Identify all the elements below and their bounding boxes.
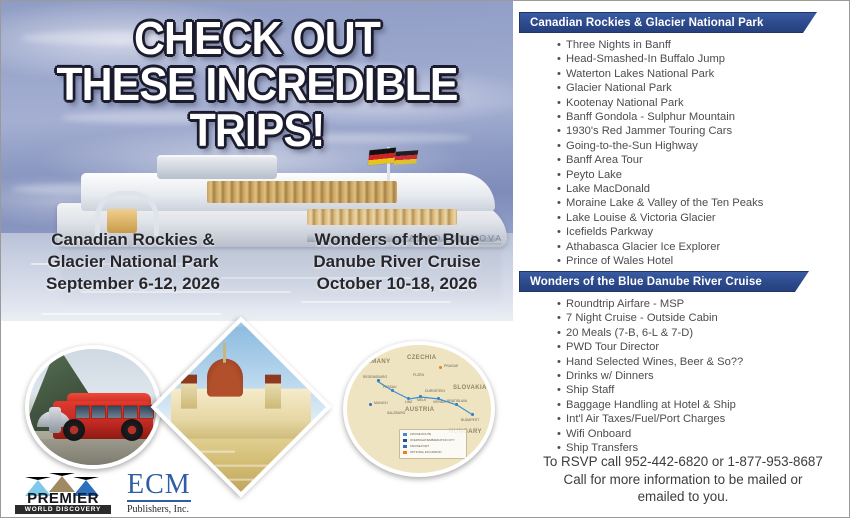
- premier-logo-tagline: WORLD DISCOVERY: [15, 505, 111, 514]
- ecm-logo-word: ECM: [127, 471, 191, 502]
- list-item: Three Nights in Banff: [566, 38, 849, 52]
- road-surface: [29, 439, 161, 465]
- list-item: Lake MacDonald: [566, 182, 849, 196]
- trip-title-line-2: Glacier National Park: [47, 252, 218, 271]
- list-item: Roundtrip Airfare - MSP: [566, 297, 849, 311]
- list-item: Peyto Lake: [566, 168, 849, 182]
- list-item: 20 Meals (7-B, 6-L & 7-D): [566, 326, 849, 340]
- trip-dates: October 10-18, 2026: [277, 273, 513, 295]
- trip-title-line-1: Canadian Rockies &: [51, 230, 214, 249]
- list-item: Wifi Onboard: [566, 427, 849, 441]
- danube-section: Wonders of the Blue Danube River Cruise …: [513, 271, 849, 455]
- list-item: Int'l Air Taxes/Fuel/Port Charges: [566, 412, 849, 426]
- trip-title-line-1: Wonders of the Blue: [315, 230, 480, 249]
- list-item: Baggage Handling at Hotel & Ship: [566, 398, 849, 412]
- map-legend-item-3: OPTIONAL EXCURSION: [410, 450, 441, 454]
- rsvp-line-3: emailed to you.: [521, 488, 845, 506]
- logo-row: PREMIER WORLD DISCOVERY ECM Publishers, …: [15, 471, 245, 513]
- list-item: Hand Selected Wines, Beer & So??: [566, 355, 849, 369]
- list-item: Banff Area Tour: [566, 153, 849, 167]
- map-legend-item-2: CRUISE PORT: [410, 444, 429, 448]
- red-jammer-bus-photo: [25, 345, 161, 469]
- itinerary-panel: Canadian Rockies & Glacier National Park…: [513, 1, 849, 517]
- inclusions-list-danube: Roundtrip Airfare - MSP7 Night Cruise - …: [513, 297, 849, 455]
- ecm-publishers-logo: ECM Publishers, Inc.: [127, 471, 237, 515]
- list-item: Prince of Wales Hotel: [566, 254, 849, 268]
- section-header-rockies: Canadian Rockies & Glacier National Park: [519, 12, 817, 33]
- headline-line-1: CHECK OUT: [19, 15, 495, 61]
- rsvp-contact-block: To RSVP call 952-442-6820 or 1-877-953-8…: [521, 453, 845, 506]
- list-item: Icefields Parkway: [566, 225, 849, 239]
- ecm-logo-tagline: Publishers, Inc.: [127, 504, 237, 515]
- bus-window: [91, 405, 106, 419]
- rsvp-line-2: Call for more information to be mailed o…: [521, 471, 845, 489]
- list-item: Drinks w/ Dinners: [566, 369, 849, 383]
- headline-line-2: THESE INCREDIBLE: [19, 61, 495, 107]
- bus-window: [107, 405, 122, 419]
- list-item: PWD Tour Director: [566, 340, 849, 354]
- trip-caption-rockies: Canadian Rockies & Glacier National Park…: [13, 229, 253, 295]
- danube-route-map-photo: GERMANY CZECHIA SLOVAKIA AUSTRIA HUNGARY…: [343, 341, 495, 477]
- trip-dates: September 6-12, 2026: [13, 273, 253, 295]
- parliament-tower-left: [181, 375, 197, 409]
- page-title: CHECK OUT THESE INCREDIBLE TRIPS!: [19, 15, 495, 153]
- rsvp-line-1: To RSVP call 952-442-6820 or 1-877-953-8…: [521, 453, 845, 471]
- bus-window: [75, 405, 90, 419]
- map-canvas: GERMANY CZECHIA SLOVAKIA AUSTRIA HUNGARY…: [347, 345, 491, 473]
- parliament-tower-right: [265, 375, 281, 409]
- bus-wheel-rear: [121, 419, 143, 441]
- inclusions-list-rockies: Three Nights in BanffHead-Smashed-In Buf…: [513, 38, 849, 269]
- ship-window-row-upper: [207, 181, 397, 203]
- list-item: Kootenay National Park: [566, 96, 849, 110]
- list-item: 7 Night Cruise - Outside Cabin: [566, 311, 849, 325]
- list-item: Ship Staff: [566, 383, 849, 397]
- list-item: Athabasca Glacier Ice Explorer: [566, 240, 849, 254]
- map-legend-item-1: OVERNIGHT/EMBARKATION CITY: [410, 438, 455, 442]
- ship-window-row-lower: [307, 209, 457, 225]
- bus-grill: [49, 407, 61, 433]
- hero-image-panel: AMADEUS NOVA CHECK OUT THESE INCREDIBLE …: [1, 1, 513, 517]
- bus-window: [123, 405, 138, 419]
- list-item: Moraine Lake & Valley of the Ten Peaks: [566, 196, 849, 210]
- parliament-dome: [207, 359, 243, 397]
- list-item: Head-Smashed-In Buffalo Jump: [566, 52, 849, 66]
- parliament-spire: [223, 343, 226, 363]
- list-item: Going-to-the-Sun Highway: [566, 139, 849, 153]
- list-item: Waterton Lakes National Park: [566, 67, 849, 81]
- list-item: 1930's Red Jammer Touring Cars: [566, 124, 849, 138]
- travel-advertisement: AMADEUS NOVA CHECK OUT THESE INCREDIBLE …: [0, 0, 850, 518]
- headline-line-3: TRIPS!: [19, 107, 495, 153]
- list-item: Banff Gondola - Sulphur Mountain: [566, 110, 849, 124]
- map-legend-item-0: CRUISE ROUTE: [410, 432, 431, 436]
- list-item: Lake Louise & Victoria Glacier: [566, 211, 849, 225]
- list-item: Glacier National Park: [566, 81, 849, 95]
- ship-bridge: [157, 155, 277, 179]
- trip-title-line-2: Danube River Cruise: [313, 252, 480, 271]
- bus-wheel-front: [63, 419, 85, 441]
- trip-caption-danube: Wonders of the Blue Danube River Cruise …: [277, 229, 513, 295]
- map-legend: CRUISE ROUTE OVERNIGHT/EMBARKATION CITY …: [399, 429, 467, 459]
- section-header-danube: Wonders of the Blue Danube River Cruise: [519, 271, 809, 292]
